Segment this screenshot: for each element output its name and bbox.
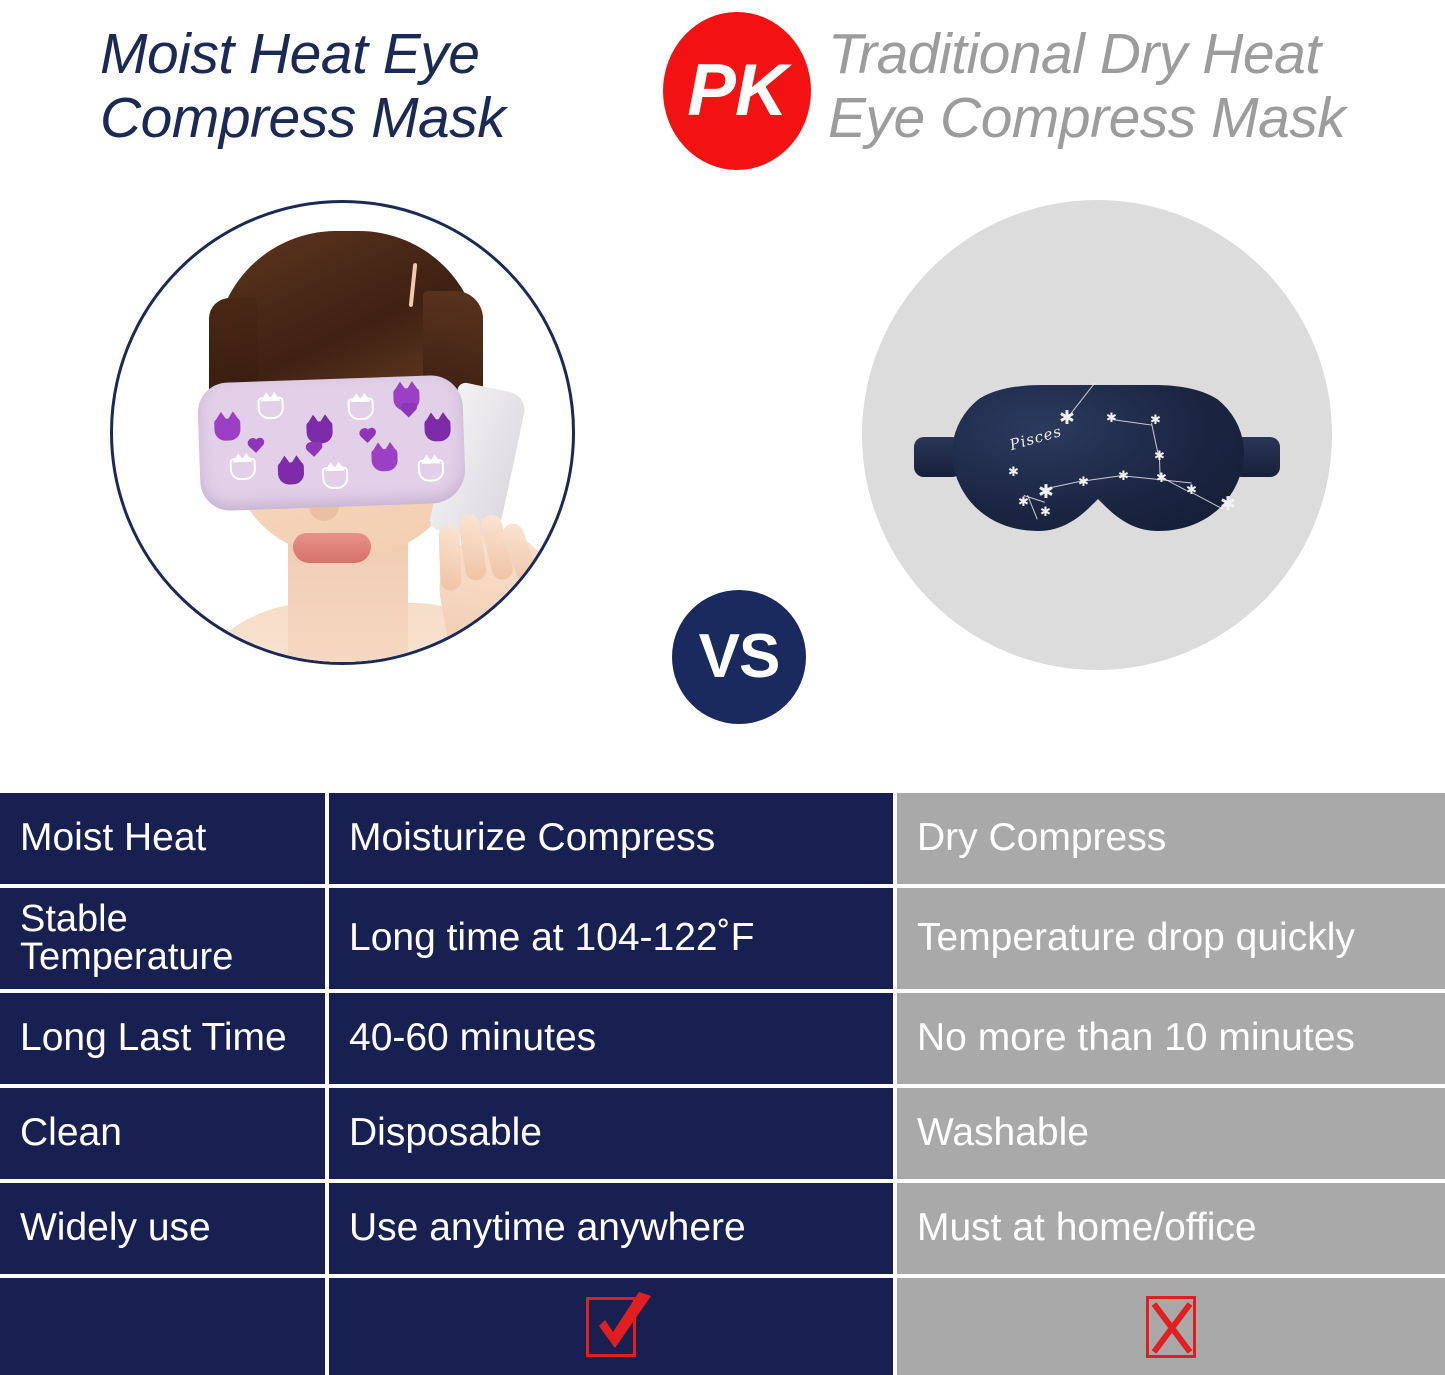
star-icon: ✱ bbox=[1040, 505, 1051, 518]
check-mark-icon bbox=[593, 1290, 655, 1356]
comparison-section: VS ✱ ✱ ✱ ✱ ✱ ✱ ✱ ✱ bbox=[0, 190, 1445, 770]
star-icon: ✱ bbox=[1186, 483, 1197, 496]
star-icon: ✱ bbox=[1150, 413, 1161, 426]
feature-cell: Moist Heat bbox=[0, 793, 325, 884]
feature-cell bbox=[0, 1278, 325, 1375]
table-row: Widely use Use anytime anywhere Must at … bbox=[0, 1183, 1445, 1274]
star-icon: ✱ bbox=[1106, 411, 1117, 424]
cross-mark-icon bbox=[1147, 1297, 1197, 1359]
moist-value-cell: Moisturize Compress bbox=[329, 793, 893, 884]
cat-print-eye-mask bbox=[197, 374, 466, 511]
star-icon: ✱ bbox=[1059, 409, 1075, 428]
lips-shape bbox=[293, 533, 371, 563]
satin-sleep-mask: ✱ ✱ ✱ ✱ ✱ ✱ ✱ ✱ ✱ ✱ ✱ ✱ ✱ Pisces bbox=[914, 383, 1280, 533]
model-illustration bbox=[113, 203, 572, 662]
feature-cell: Long Last Time bbox=[0, 993, 325, 1084]
dry-value-cell: Temperature drop quickly bbox=[897, 888, 1445, 989]
feature-cell: Stable Temperature bbox=[0, 888, 325, 989]
star-icon: ✱ bbox=[1038, 483, 1054, 502]
cross-mark-box bbox=[1146, 1296, 1196, 1358]
comparison-table: Moist Heat Moisturize Compress Dry Compr… bbox=[0, 793, 1445, 1375]
star-icon: ✱ bbox=[1220, 495, 1236, 514]
table-row-verdict bbox=[0, 1278, 1445, 1375]
star-icon: ✱ bbox=[1018, 495, 1029, 508]
feature-label-line2: Temperature bbox=[20, 938, 233, 976]
sleep-mask-body bbox=[952, 383, 1244, 533]
moist-value-cell: Long time at 104-122˚F bbox=[329, 888, 893, 989]
vs-badge: VS bbox=[672, 590, 806, 724]
dry-verdict-cell bbox=[897, 1278, 1445, 1375]
feature-label-line1: Stable bbox=[20, 900, 233, 938]
dry-value-cell: No more than 10 minutes bbox=[897, 993, 1445, 1084]
moist-value-cell: Disposable bbox=[329, 1088, 893, 1179]
star-icon: ✱ bbox=[1078, 475, 1089, 488]
table-row: Long Last Time 40-60 minutes No more tha… bbox=[0, 993, 1445, 1084]
page-title-left: Moist Heat Eye Compress Mask bbox=[100, 22, 645, 150]
moist-heat-mask-photo bbox=[110, 200, 575, 665]
hair-part-line bbox=[409, 263, 418, 307]
dry-value-cell: Must at home/office bbox=[897, 1183, 1445, 1274]
vs-badge-label: VS bbox=[699, 626, 780, 688]
pk-badge-label: PK bbox=[687, 54, 786, 127]
header: Moist Heat Eye Compress Mask PK Traditio… bbox=[0, 0, 1445, 190]
dry-value-cell: Washable bbox=[897, 1088, 1445, 1179]
table-row: Moist Heat Moisturize Compress Dry Compr… bbox=[0, 793, 1445, 884]
pk-badge: PK bbox=[663, 12, 811, 170]
star-icon: ✱ bbox=[1008, 465, 1019, 478]
moist-value-cell: 40-60 minutes bbox=[329, 993, 893, 1084]
feature-cell: Clean bbox=[0, 1088, 325, 1179]
star-icon: ✱ bbox=[1118, 469, 1129, 482]
dry-heat-mask-photo: ✱ ✱ ✱ ✱ ✱ ✱ ✱ ✱ ✱ ✱ ✱ ✱ ✱ Pisces bbox=[862, 200, 1332, 670]
page-title-right: Traditional Dry Heat Eye Compress Mask bbox=[828, 22, 1428, 150]
table-row: Clean Disposable Washable bbox=[0, 1088, 1445, 1179]
dry-value-cell: Dry Compress bbox=[897, 793, 1445, 884]
table-row: Stable Temperature Long time at 104-122˚… bbox=[0, 888, 1445, 989]
star-icon: ✱ bbox=[1156, 471, 1167, 484]
check-mark-box bbox=[586, 1297, 636, 1357]
star-icon: ✱ bbox=[1154, 449, 1165, 462]
moist-value-cell: Use anytime anywhere bbox=[329, 1183, 893, 1274]
feature-cell: Widely use bbox=[0, 1183, 325, 1274]
hand-shape bbox=[431, 525, 565, 665]
moist-verdict-cell bbox=[329, 1278, 893, 1375]
